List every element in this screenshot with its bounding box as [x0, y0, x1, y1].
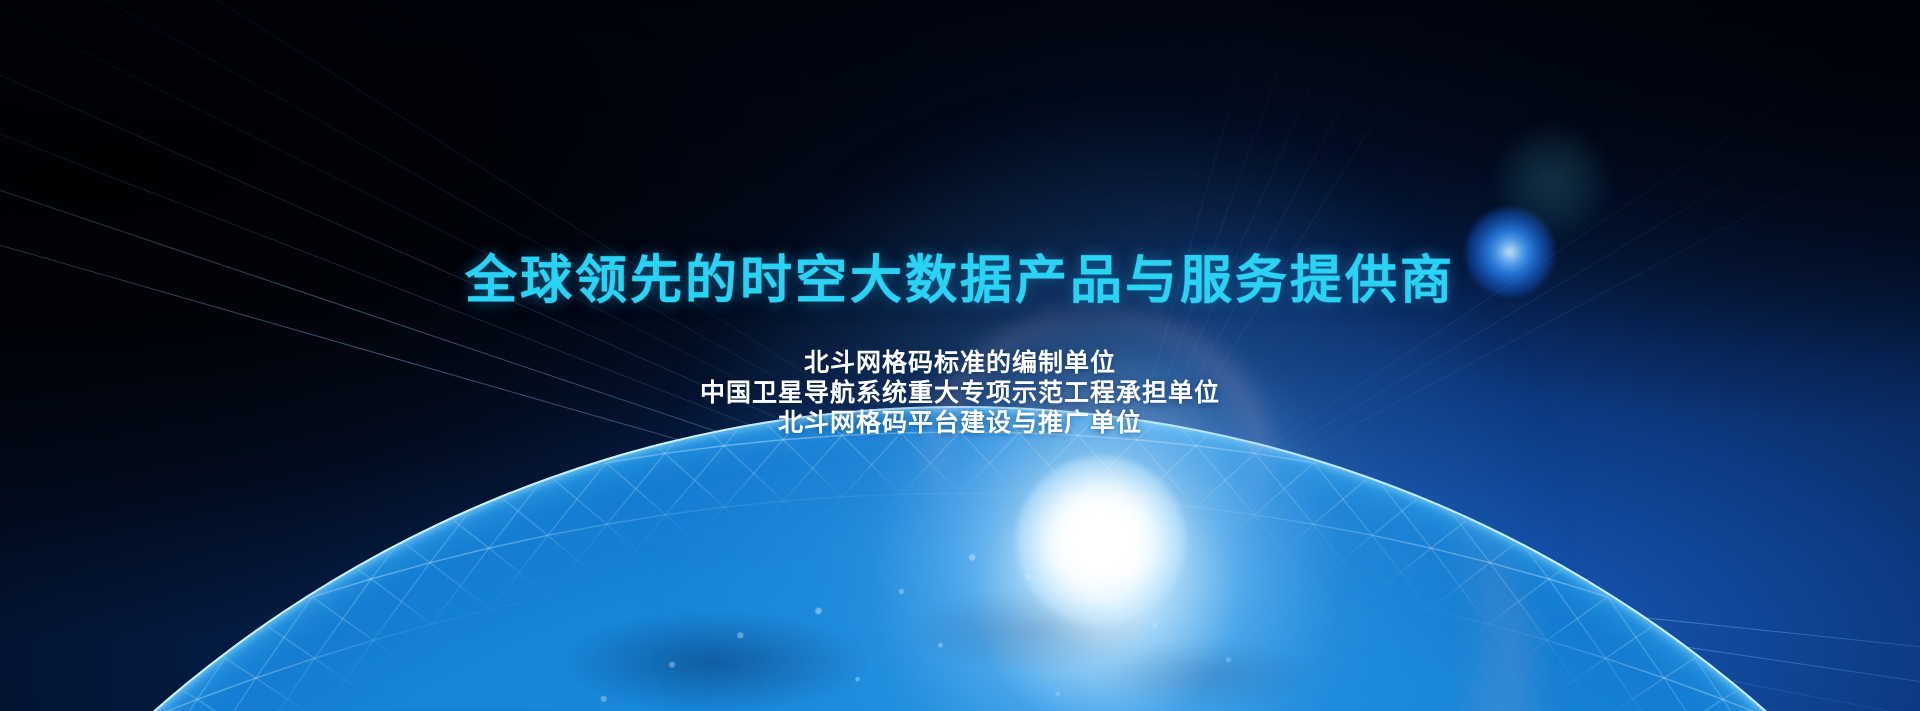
banner-subtitle-1: 北斗网格码标准的编制单位: [0, 348, 1920, 378]
banner-subtitle-3: 北斗网格码平台建设与推广单位: [0, 408, 1920, 438]
banner-subtitle-2: 中国卫星导航系统重大专项示范工程承担单位: [0, 378, 1920, 408]
hero-banner: 全球领先的时空大数据产品与服务提供商 北斗网格码标准的编制单位 中国卫星导航系统…: [0, 0, 1920, 711]
banner-subtitle-list: 北斗网格码标准的编制单位 中国卫星导航系统重大专项示范工程承担单位 北斗网格码平…: [0, 348, 1920, 438]
banner-headline: 全球领先的时空大数据产品与服务提供商: [0, 255, 1920, 307]
banner-copy: 全球领先的时空大数据产品与服务提供商 北斗网格码标准的编制单位 中国卫星导航系统…: [0, 0, 1920, 711]
